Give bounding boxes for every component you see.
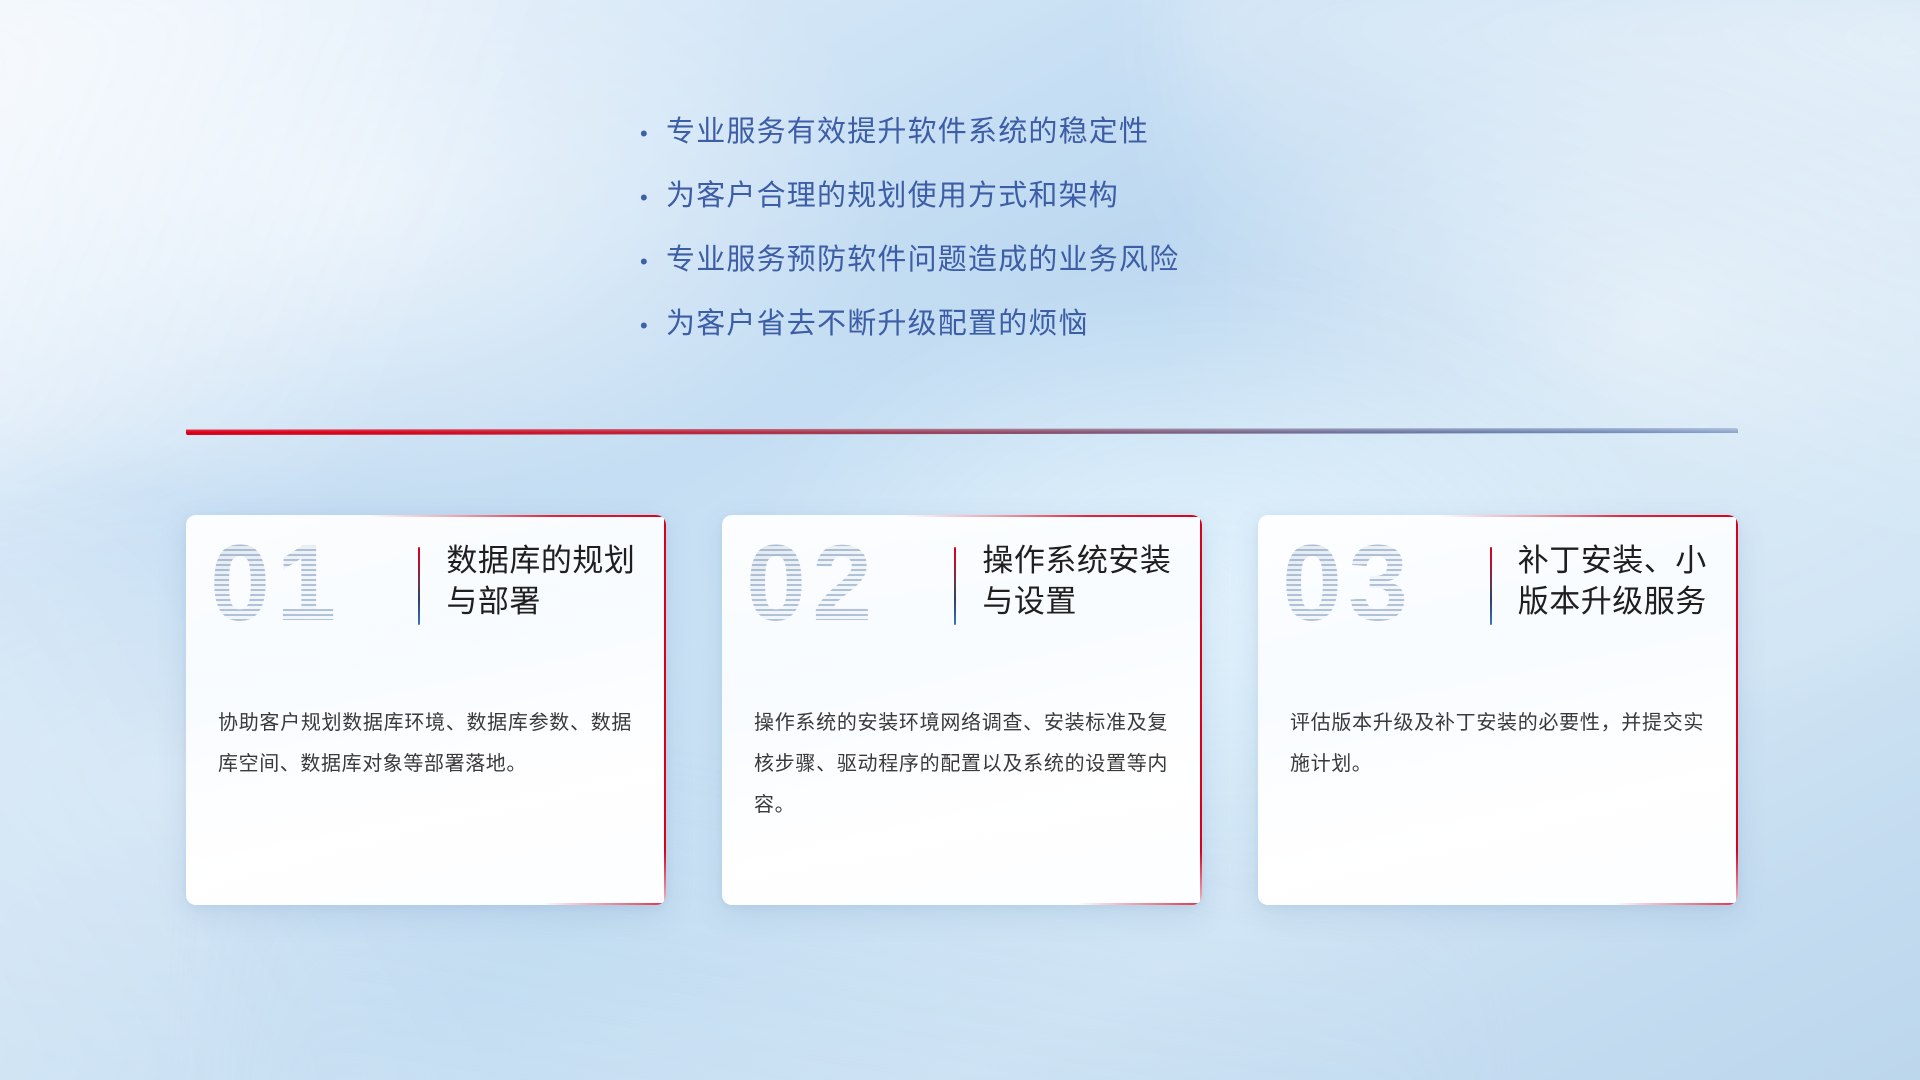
card-title-group: 操作系统安装与设置 — [954, 541, 1202, 625]
bullet-marker-icon: • — [640, 187, 666, 209]
bullet-item: • 专业服务预防软件问题造成的业务风险 — [640, 236, 1460, 300]
bullet-item: • 专业服务有效提升软件系统的稳定性 — [640, 108, 1460, 172]
card-title: 补丁安装、小版本升级服务 — [1518, 541, 1738, 623]
card-header: 02 02 操作系统安装与设置 — [722, 515, 1202, 680]
card-title-group: 数据库的规划与部署 — [418, 541, 666, 625]
feature-card-02[interactable]: 02 02 操作系统安装与设置 操作系统的安装环境网络调查、安装标准及复核步骤、… — [722, 515, 1202, 905]
bullet-item: • 为客户合理的规划使用方式和架构 — [640, 172, 1460, 236]
slide-root: • 专业服务有效提升软件系统的稳定性 • 为客户合理的规划使用方式和架构 • 专… — [0, 0, 1920, 1080]
bullet-marker-icon: • — [640, 251, 666, 273]
card-accent-bottom-line — [541, 903, 666, 905]
card-accent-bottom-line — [1077, 903, 1202, 905]
bullet-item-label: 专业服务有效提升软件系统的稳定性 — [666, 108, 1149, 150]
bullet-item-label: 为客户省去不断升级配置的烦恼 — [666, 300, 1089, 342]
bullet-item-label: 为客户合理的规划使用方式和架构 — [666, 172, 1119, 214]
bullet-marker-icon: • — [640, 315, 666, 337]
card-number: 02 — [746, 529, 878, 637]
card-title-accent-bar — [1490, 547, 1492, 625]
card-description: 评估版本升级及补丁安装的必要性，并提交实施计划。 — [1290, 703, 1704, 785]
card-description: 协助客户规划数据库环境、数据库参数、数据库空间、数据库对象等部署落地。 — [218, 703, 632, 785]
feature-card-03[interactable]: 03 03 补丁安装、小版本升级服务 评估版本升级及补丁安装的必要性，并提交实施… — [1258, 515, 1738, 905]
card-title-accent-bar — [954, 547, 956, 625]
card-title-group: 补丁安装、小版本升级服务 — [1490, 541, 1738, 625]
card-number: 01 — [210, 529, 342, 637]
feature-card-row: 01 01 数据库的规划与部署 协助客户规划数据库环境、数据库参数、数据库空间、… — [186, 515, 1738, 905]
card-title: 数据库的规划与部署 — [446, 541, 666, 623]
card-title: 操作系统安装与设置 — [982, 541, 1202, 623]
section-divider — [186, 428, 1738, 437]
card-description: 操作系统的安装环境网络调查、安装标准及复核步骤、驱动程序的配置以及系统的设置等内… — [754, 703, 1168, 826]
card-number: 03 — [1282, 529, 1414, 637]
card-header: 03 03 补丁安装、小版本升级服务 — [1258, 515, 1738, 680]
bullet-list: • 专业服务有效提升软件系统的稳定性 • 为客户合理的规划使用方式和架构 • 专… — [640, 108, 1460, 364]
card-title-accent-bar — [418, 547, 420, 625]
card-header: 01 01 数据库的规划与部署 — [186, 515, 666, 680]
bullet-marker-icon: • — [640, 123, 666, 145]
bullet-item-label: 专业服务预防软件问题造成的业务风险 — [666, 236, 1179, 278]
divider-highlight — [186, 428, 1738, 435]
feature-card-01[interactable]: 01 01 数据库的规划与部署 协助客户规划数据库环境、数据库参数、数据库空间、… — [186, 515, 666, 905]
card-accent-bottom-line — [1613, 903, 1738, 905]
bullet-item: • 为客户省去不断升级配置的烦恼 — [640, 300, 1460, 364]
